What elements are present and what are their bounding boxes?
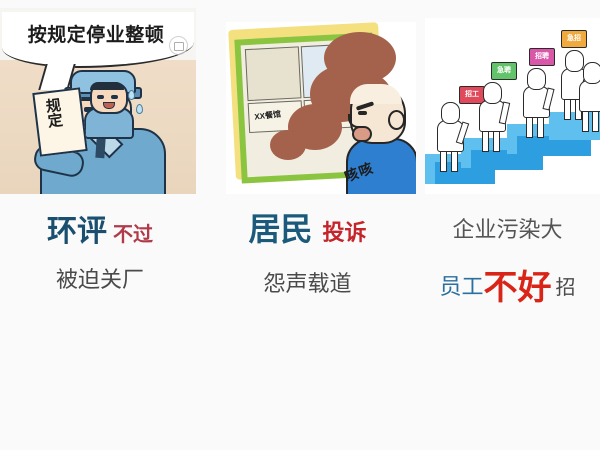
caption-main-text: 环评 [47,215,107,248]
sweat-drop-icon [136,104,143,114]
figure-body [579,80,600,112]
infographic-sheet: 按规定停业整顿 [0,0,600,450]
panel-1-caption-line2: 被迫关厂 [0,262,200,294]
placard-recruit-2: 急聘 [491,62,517,80]
camera-badge-icon [169,36,188,55]
caption-emphasis-text: 不好 [484,269,552,307]
panel-3-caption-line2: 员工不好招 [415,260,600,309]
caption-post-text: 招 [556,277,576,299]
figure-head [483,82,502,104]
panel-3-caption-line1: 企业污染大 [415,212,600,244]
resident-ear [388,110,405,130]
regulation-notice: 规定 [32,87,87,156]
caption-accent-text: 不过 [113,224,153,246]
job-seeker-figure [577,62,600,126]
caption-accent-text: 投诉 [323,220,367,245]
figure-head [583,62,600,84]
panel-1-illustration: 按规定停业整顿 [0,8,196,194]
regulation-notice-text: 规定 [42,97,65,129]
panel-2-illustration: XX餐馆 XX饭店 咳咳 [226,22,416,194]
resident-bald-top [350,84,402,104]
factory-owner-figure [84,82,134,134]
job-seeker-figure [521,68,551,138]
owner-eye-right [111,95,118,99]
building-window [245,46,302,101]
panel-3: 招工 急聘 招聘 [415,0,600,320]
owner-hair [90,82,124,90]
panel-2-caption-line1: 居民投诉 [200,204,415,250]
job-seeker-figure [477,82,507,152]
panel-1-caption-line1: 环评不过 [0,206,200,250]
placard-recruit-3: 招聘 [529,48,555,66]
caption-pre-text: 员工 [439,274,483,299]
placard-recruit-4: 急招 [561,30,587,48]
figure-head [527,68,546,90]
panel-row: 按规定停业整顿 [0,0,600,320]
panel-2-caption-line2: 怨声载道 [200,266,415,298]
figure-head [441,102,460,124]
inspector-tie [95,138,105,159]
sweat-drop-icon [128,90,135,100]
panel-1: 按规定停业整顿 [0,0,200,320]
owner-eye-left [97,95,104,99]
smoke-plume [270,130,306,160]
caption-main-text: 居民 [248,211,312,247]
speech-bubble-text: 按规定停业整顿 [8,20,184,47]
job-seeker-figure [435,102,465,172]
panel-2: XX餐馆 XX饭店 咳咳 [200,0,415,320]
panel-3-illustration: 招工 急聘 招聘 [425,18,600,194]
resident-mouth [352,126,372,142]
